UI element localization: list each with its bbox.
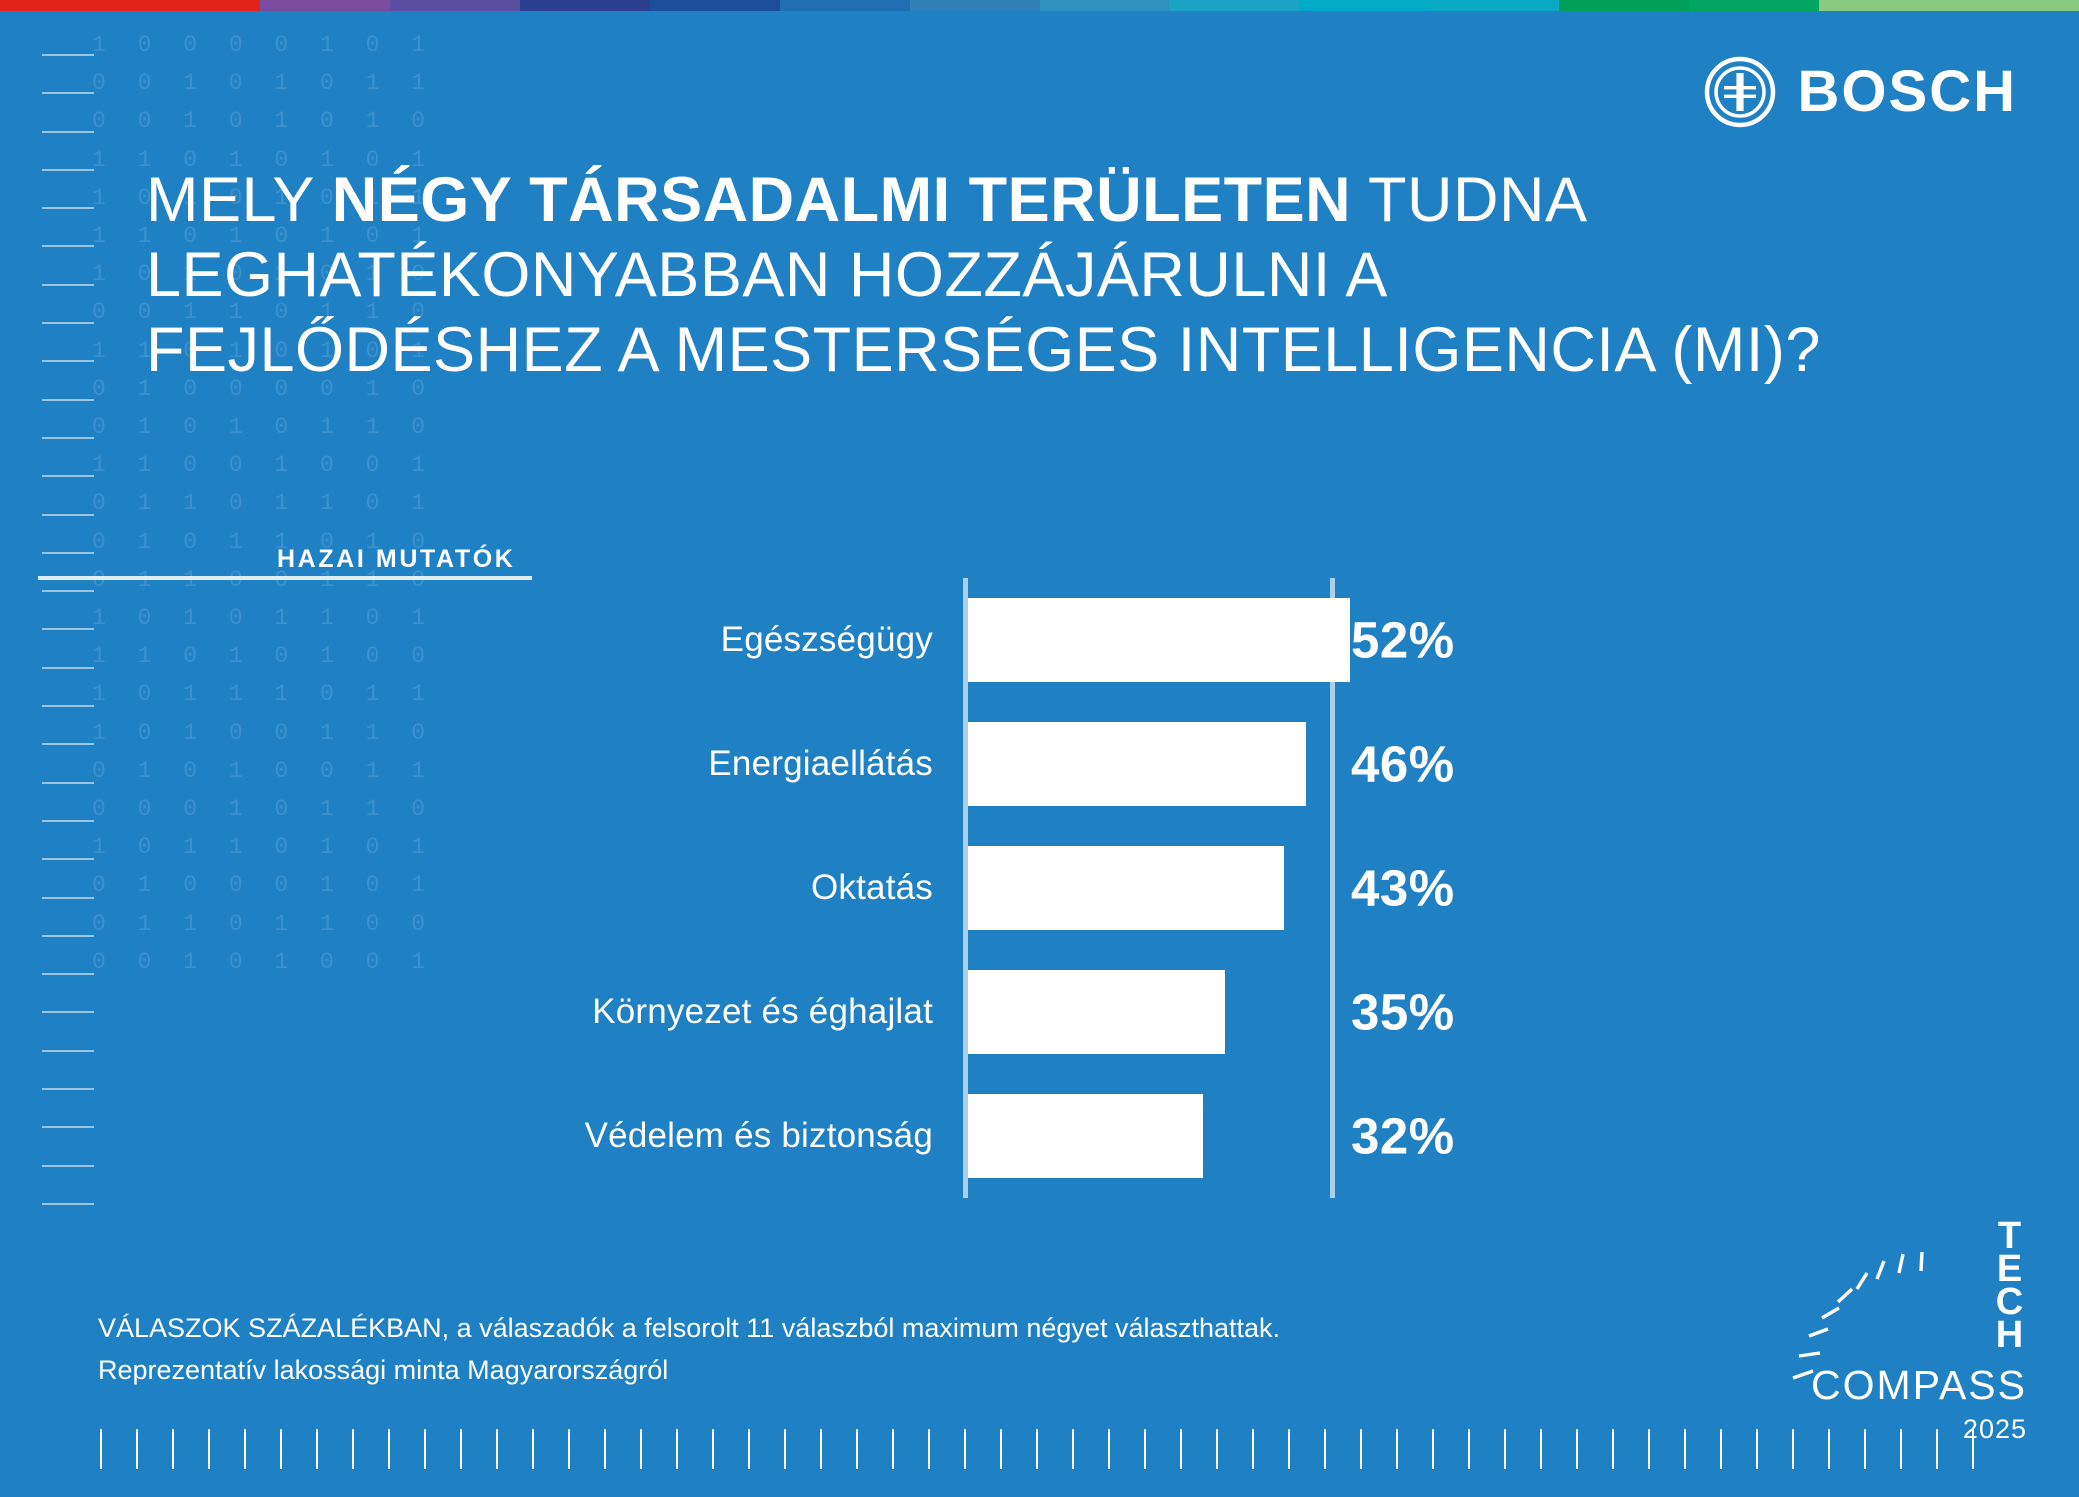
footnote-line-2: Reprezentatív lakossági minta Magyarorsz… (98, 1349, 1598, 1391)
dash-mark (42, 475, 94, 477)
tick-mark (1036, 1429, 1038, 1469)
dash-mark (42, 552, 94, 554)
tech-compass-tech-text: TECH (1993, 1220, 2027, 1352)
dash-mark (42, 743, 94, 745)
page-title: MELY NÉGY TÁRSADALMI TERÜLETEN TUDNA LEG… (146, 163, 1826, 388)
top-bar-segment (1429, 0, 1559, 11)
tick-mark (1792, 1429, 1794, 1469)
headline-emphasis: NÉGY TÁRSADALMI TERÜLETEN (332, 165, 1351, 235)
top-bar-segment (1559, 0, 1689, 11)
top-bar-segment (1819, 0, 1949, 11)
tick-mark (1864, 1429, 1866, 1469)
tick-mark (1324, 1429, 1326, 1469)
bar-row: Környezet és éghajlat35% (963, 950, 1335, 1074)
tick-mark (928, 1429, 930, 1469)
tick-mark (784, 1429, 786, 1469)
top-bar-segment (1689, 0, 1819, 11)
dash-mark (42, 514, 94, 516)
left-dash-decoration (42, 54, 94, 1244)
dash-mark (42, 1088, 94, 1090)
tick-mark (856, 1429, 858, 1469)
tick-mark (208, 1429, 210, 1469)
bar-chart: Egészségügy52%Energiaellátás46%Oktatás43… (520, 578, 1580, 1198)
dash-mark (42, 92, 94, 94)
bottom-tick-decoration (100, 1429, 2008, 1469)
dash-mark (42, 667, 94, 669)
tick-mark (1648, 1429, 1650, 1469)
tick-mark (1504, 1429, 1506, 1469)
tick-mark (748, 1429, 750, 1469)
dash-mark (42, 820, 94, 822)
top-bar-segment (1949, 0, 2079, 11)
tick-mark (172, 1429, 174, 1469)
tick-mark (820, 1429, 822, 1469)
tick-mark (388, 1429, 390, 1469)
chart-plot-area: Egészségügy52%Energiaellátás46%Oktatás43… (963, 578, 1335, 1198)
dash-mark (42, 399, 94, 401)
tick-mark (1072, 1429, 1074, 1469)
tick-mark (1396, 1429, 1398, 1469)
dash-mark (42, 1011, 94, 1013)
dash-mark (42, 54, 94, 56)
top-bar-segment (130, 0, 260, 11)
bar-fill (968, 722, 1306, 806)
tech-compass-compass-text: COMPASS (1779, 1362, 2027, 1409)
tick-mark (1432, 1429, 1434, 1469)
bar-value-label: 43% (1351, 859, 1455, 918)
bosch-wordmark: BOSCH (1798, 63, 2017, 121)
tick-mark (1180, 1429, 1182, 1469)
tick-mark (1756, 1429, 1758, 1469)
tick-mark (1936, 1429, 1938, 1469)
bar-category-label: Környezet és éghajlat (592, 992, 933, 1032)
top-bar-segment (910, 0, 1040, 11)
section-label: HAZAI MUTATÓK (277, 545, 515, 574)
tick-mark (1612, 1429, 1614, 1469)
tick-mark (352, 1429, 354, 1469)
dash-mark (42, 935, 94, 937)
dash-mark (42, 207, 94, 209)
tech-compass-letter: H (1993, 1319, 2027, 1352)
headline-part-1: MELY (146, 165, 332, 235)
top-bar-segment (1299, 0, 1429, 11)
tick-mark (1540, 1429, 1542, 1469)
dash-mark (42, 973, 94, 975)
tick-mark (1828, 1429, 1830, 1469)
bar-fill (968, 846, 1284, 930)
tick-mark (136, 1429, 138, 1469)
dash-mark (42, 1126, 94, 1128)
bar-row: Energiaellátás46% (963, 702, 1335, 826)
bar-value-label: 52% (1351, 611, 1455, 670)
compass-arc-ticks-icon (1779, 1220, 2027, 1445)
bar-category-label: Egészségügy (721, 620, 933, 660)
dash-mark (42, 169, 94, 171)
tick-mark (604, 1429, 606, 1469)
tick-mark (892, 1429, 894, 1469)
tick-mark (496, 1429, 498, 1469)
dash-mark (42, 858, 94, 860)
tick-mark (640, 1429, 642, 1469)
bar-value-label: 35% (1351, 983, 1455, 1042)
tick-mark (964, 1429, 966, 1469)
dash-mark (42, 782, 94, 784)
top-bar-segment (260, 0, 390, 11)
bar-row: Védelem és biztonság32% (963, 1074, 1335, 1198)
dash-mark (42, 628, 94, 630)
tick-mark (1000, 1429, 1002, 1469)
tick-mark (1684, 1429, 1686, 1469)
dash-mark (42, 1203, 94, 1205)
top-bar-segment (0, 0, 130, 11)
top-bar-segment (1169, 0, 1299, 11)
tick-mark (676, 1429, 678, 1469)
bar-category-label: Védelem és biztonság (585, 1116, 933, 1156)
tick-mark (100, 1429, 102, 1469)
tick-mark (1144, 1429, 1146, 1469)
dash-mark (42, 284, 94, 286)
tick-mark (568, 1429, 570, 1469)
footnote: VÁLASZOK SZÁZALÉKBAN, a válaszadók a fel… (98, 1307, 1598, 1391)
bar-value-label: 32% (1351, 1107, 1455, 1166)
tick-mark (1108, 1429, 1110, 1469)
tech-compass-logo: TECH COMPASS 2025 (1779, 1220, 2027, 1445)
tick-mark (1972, 1429, 1974, 1469)
bar-category-label: Energiaellátás (708, 744, 933, 784)
dash-mark (42, 705, 94, 707)
dash-mark (42, 360, 94, 362)
bar-row: Oktatás43% (963, 826, 1335, 950)
tick-mark (1576, 1429, 1578, 1469)
dash-mark (42, 322, 94, 324)
footnote-line-1: VÁLASZOK SZÁZALÉKBAN, a válaszadók a fel… (98, 1307, 1598, 1349)
bar-category-label: Oktatás (811, 868, 933, 908)
tick-mark (1468, 1429, 1470, 1469)
bar-fill (968, 598, 1350, 682)
bar-fill (968, 1094, 1203, 1178)
bar-fill (968, 970, 1225, 1054)
section-rule-line (38, 576, 532, 580)
tick-mark (1900, 1429, 1902, 1469)
tick-mark (532, 1429, 534, 1469)
tick-mark (280, 1429, 282, 1469)
bosch-anchor-icon (1704, 56, 1776, 128)
dash-mark (42, 131, 94, 133)
dash-mark (42, 1050, 94, 1052)
top-bar-segment (390, 0, 520, 11)
top-bar-segment (780, 0, 910, 11)
dash-mark (42, 897, 94, 899)
tick-mark (1288, 1429, 1290, 1469)
tick-mark (1216, 1429, 1218, 1469)
tick-mark (316, 1429, 318, 1469)
top-bar-segment (520, 0, 650, 11)
tick-mark (244, 1429, 246, 1469)
top-bar-segment (650, 0, 780, 11)
tick-mark (1360, 1429, 1362, 1469)
dash-mark (42, 437, 94, 439)
dash-mark (42, 590, 94, 592)
tick-mark (712, 1429, 714, 1469)
bosch-logo: BOSCH (1704, 56, 2017, 128)
tick-mark (460, 1429, 462, 1469)
bar-value-label: 46% (1351, 735, 1455, 794)
tick-mark (1252, 1429, 1254, 1469)
bar-row: Egészségügy52% (963, 578, 1335, 702)
tick-mark (424, 1429, 426, 1469)
top-bar-segment (1040, 0, 1170, 11)
dash-mark (42, 1165, 94, 1167)
top-color-bar (0, 0, 2079, 11)
dash-mark (42, 245, 94, 247)
tick-mark (1720, 1429, 1722, 1469)
